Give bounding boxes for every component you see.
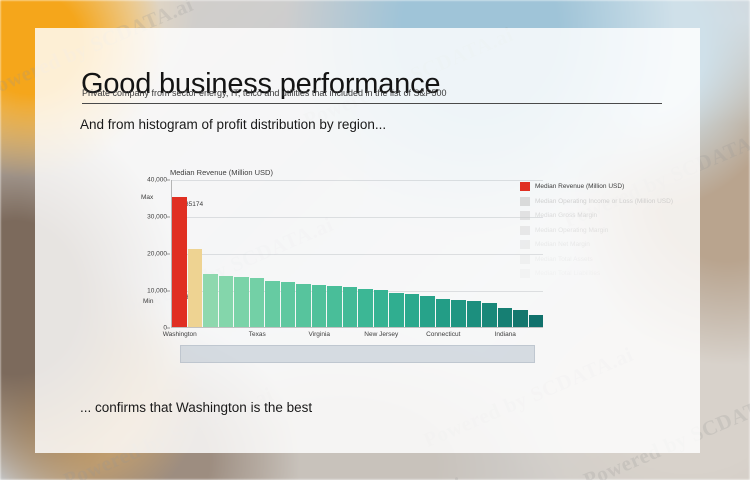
bar[interactable] <box>172 197 187 327</box>
revenue-bar-chart[interactable]: Median Revenue (Million USD) Max Min 351… <box>85 168 685 386</box>
bar[interactable] <box>265 281 280 327</box>
y-axis-tick-mark <box>167 328 170 329</box>
bar[interactable] <box>250 278 265 327</box>
y-axis-tick-mark <box>167 291 170 292</box>
lead-text: And from histogram of profit distributio… <box>80 117 386 132</box>
legend-item[interactable]: Median Total Assets <box>520 254 685 265</box>
y-axis-tick-label: 20,000 <box>147 251 167 258</box>
x-axis-tick-label: New Jersey <box>364 331 398 338</box>
bar[interactable] <box>327 286 342 327</box>
bar[interactable] <box>312 285 327 327</box>
bar[interactable] <box>436 299 451 327</box>
legend-swatch-icon <box>520 182 530 191</box>
y-axis-tick-label: 10,000 <box>147 288 167 295</box>
legend-item[interactable]: Median Revenue (Million USD) <box>520 181 685 192</box>
legend-swatch-icon <box>520 197 530 206</box>
x-axis-tick-label: Connecticut <box>426 331 460 338</box>
legend-item[interactable]: Median Gross Margin <box>520 210 685 221</box>
chart-legend[interactable]: Median Revenue (Million USD)Median Opera… <box>520 181 685 283</box>
legend-swatch-icon <box>520 226 530 235</box>
x-axis-tick-label: Texas <box>249 331 266 338</box>
closing-text: ... confirms that Washington is the best <box>80 400 312 415</box>
x-axis-labels: WashingtonTexasVirginiaNew JerseyConnect… <box>172 331 544 343</box>
legend-item[interactable]: Median Operating Margin <box>520 225 685 236</box>
legend-item[interactable]: Median Total Liabilities <box>520 268 685 279</box>
page-subtitle: Private company from sector energy, IT, … <box>82 88 447 98</box>
bar[interactable] <box>405 294 420 327</box>
x-axis-tick-label: Virginia <box>308 331 330 338</box>
legend-swatch-icon <box>520 255 530 264</box>
bar[interactable] <box>219 276 234 327</box>
y-axis-tick-label: 40,000 <box>147 177 167 184</box>
bar[interactable] <box>389 293 404 327</box>
legend-item-label: Median Total Liabilities <box>535 270 600 277</box>
header-divider <box>82 103 662 104</box>
x-axis-tick-label: Indiana <box>495 331 516 338</box>
scale-min-label: Min <box>143 298 153 305</box>
bar[interactable] <box>374 290 389 327</box>
legend-item-label: Median Net Margin <box>535 241 590 248</box>
x-axis-tick-label: Washington <box>163 331 197 338</box>
bar[interactable] <box>281 282 296 327</box>
bar[interactable] <box>467 301 482 327</box>
x-axis-line <box>171 327 543 328</box>
bar[interactable] <box>529 315 544 327</box>
bar[interactable] <box>498 308 513 327</box>
y-axis-tick-mark <box>167 254 170 255</box>
y-axis-tick-mark <box>167 217 170 218</box>
legend-swatch-icon <box>520 240 530 249</box>
legend-item-label: Median Total Assets <box>535 256 593 263</box>
y-axis-tick-mark <box>167 180 170 181</box>
legend-item-label: Median Revenue (Million USD) <box>535 183 624 190</box>
bar[interactable] <box>203 274 218 327</box>
legend-item[interactable]: Median Operating Income or Loss (Million… <box>520 196 685 207</box>
y-axis-tick-label: 30,000 <box>147 214 167 221</box>
legend-swatch-icon <box>520 211 530 220</box>
legend-swatch-icon <box>520 269 530 278</box>
bar[interactable] <box>358 289 373 327</box>
bar[interactable] <box>482 303 497 327</box>
slide-panel: Good business performance Private compan… <box>35 28 700 453</box>
legend-item-label: Median Operating Margin <box>535 227 608 234</box>
bar[interactable] <box>296 284 311 327</box>
bar[interactable] <box>451 300 466 327</box>
chart-title: Median Revenue (Million USD) <box>170 168 273 177</box>
bar[interactable] <box>343 287 358 327</box>
bar[interactable] <box>513 310 528 327</box>
bar[interactable] <box>188 249 203 327</box>
bar-series[interactable] <box>172 180 543 327</box>
legend-item-label: Median Operating Income or Loss (Million… <box>535 198 673 205</box>
chart-horizontal-scrollbar[interactable] <box>180 345 535 363</box>
legend-item-label: Median Gross Margin <box>535 212 597 219</box>
legend-item[interactable]: Median Net Margin <box>520 239 685 250</box>
bar[interactable] <box>420 296 435 327</box>
plot-area: 010,00020,00030,00040,000 <box>171 180 543 328</box>
scale-max-label: Max <box>141 194 153 201</box>
bar[interactable] <box>234 277 249 327</box>
